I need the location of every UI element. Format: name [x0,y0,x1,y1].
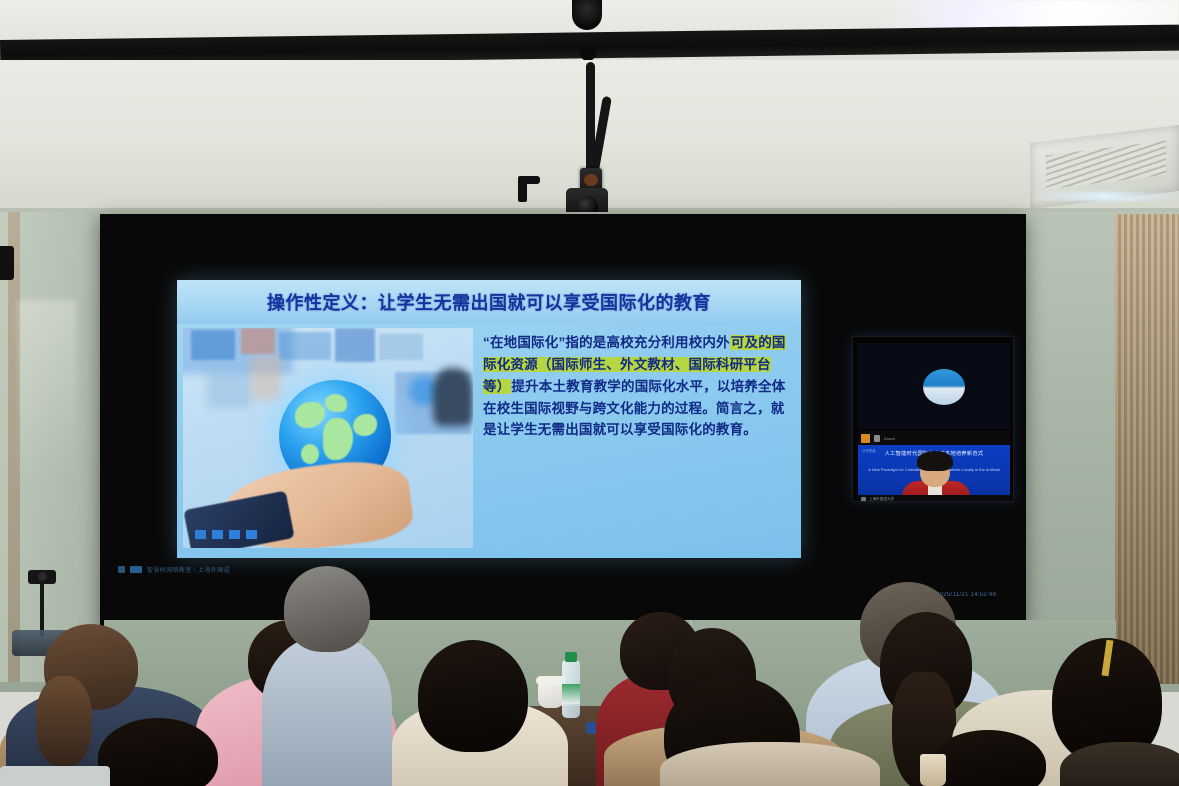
slide-photo-squares [195,530,257,539]
vc-app-label: Zoom [884,436,895,441]
video-conference-window[interactable]: Zoom 分享屏幕 人工智能时代国际化人才本地培养新范式 A New Parad… [852,336,1014,502]
taskbar-label: 智慧树网络教室 \ 上海外国语 [147,565,230,574]
vc-share-icon[interactable] [861,434,870,443]
rail-camera-icon [580,46,596,61]
vc-toolbar[interactable]: Zoom [858,431,1010,445]
chair-back-left [0,766,110,786]
sleeve-cuff [183,491,294,548]
presentation-slide: 操作性定义：让学生无需出国就可以享受国际化的教育 [177,280,801,558]
boom-camera-lens-icon [584,174,598,186]
attendee-man-grey-hair-body [262,636,392,786]
projected-timestamp: 2025/11/21 14:52:48 [936,592,996,598]
slide-photo-globe [183,328,473,548]
attendee-man-grey-hair [284,566,370,652]
left-wall-glare [18,300,76,560]
vc-video-stage: 分享屏幕 人工智能时代国际化人才本地培养新范式 A New Paradigm f… [858,445,1010,497]
vc-footer-label: 上海外国语大学 [869,497,894,502]
attendee-front-dark-1-head [418,640,528,752]
dome-camera-icon [572,0,602,30]
vc-presenter-hair [917,451,953,471]
taskbar-icon-2[interactable] [130,566,142,573]
slide-body-text: “在地国际化”指的是高校充分利用校内外可及的国际化资源（国际师生、外文教材、国际… [473,326,801,558]
tea-cup-icon [538,682,564,708]
wood-slat-panel [1115,214,1179,684]
vc-footer-bar: 上海外国语大学 [858,495,1010,502]
attendee-navy-ponytail [36,676,92,768]
attendee-right-edge-body [1060,742,1179,786]
slide-body: “在地国际化”指的是高校充分利用校内外可及的国际化资源（国际师生、外文教材、国际… [177,326,801,558]
rail-clip [518,176,527,202]
tripod-pole [40,584,44,636]
vc-participants-icon[interactable] [874,435,880,442]
vc-globe-thumbnail-icon [923,369,965,405]
water-bottle-cap [565,652,577,662]
vc-screen-share-area [858,343,1010,429]
water-bottle-label [562,684,580,704]
projected-taskbar[interactable]: 智慧树网络教室 \ 上海外国语 [118,565,230,574]
vc-footer-icon [861,497,866,502]
taskbar-icon-1[interactable] [118,566,125,573]
slide-title-bar: 操作性定义：让学生无需出国就可以享受国际化的教育 [177,280,801,324]
projection-screen[interactable]: 操作性定义：让学生无需出国就可以享受国际化的教育 [100,214,1026,629]
tripod-camera-lens-icon [38,572,47,581]
lecture-hall-photo: 操作性定义：让学生无需出国就可以享受国际化的教育 [0,0,1179,786]
projection-screen-surface: 操作性定义：让学生无需出国就可以享受国际化的教育 [100,214,1026,629]
attendee-fur-collar [660,742,880,786]
paper-cup-icon [920,754,946,786]
wall-mount-bracket [0,246,14,280]
ac-vent-glow [1030,192,1179,201]
slide-text-seg1: “在地国际化”指的是高校充分利用校内外 [483,335,730,350]
slide-text-seg2: 提升本土教育教学的国际化水平，以培养全体在校生国际视野与跨文化能力的过程。简言之… [483,379,785,438]
slide-title: 操作性定义：让学生无需出国就可以享受国际化的教育 [267,289,711,315]
